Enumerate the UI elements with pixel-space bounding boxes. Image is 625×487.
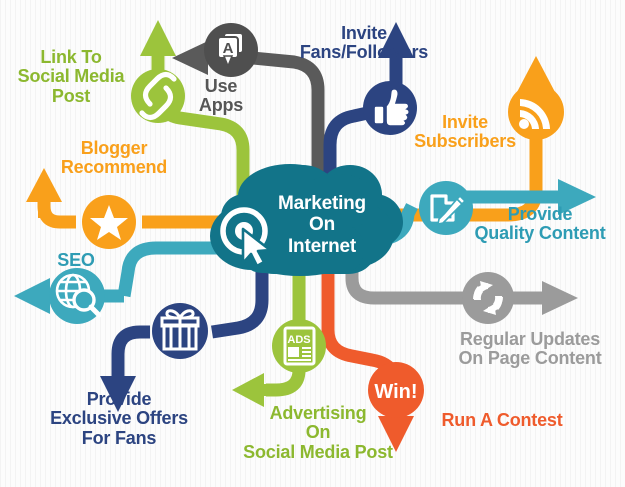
svg-text:ADS: ADS xyxy=(287,334,310,346)
rss-feed-icon-badge[interactable] xyxy=(508,84,564,140)
win-badge-icon[interactable]: Win! xyxy=(368,362,424,418)
connector-run-a-contest xyxy=(328,258,414,452)
mindmap-artwork: A xyxy=(0,0,625,487)
chain-link-icon-badge[interactable] xyxy=(131,69,185,123)
app-bubble-a-icon-badge[interactable]: A xyxy=(204,23,258,77)
thumbs-up-icon-badge[interactable] xyxy=(363,81,417,135)
svg-text:A: A xyxy=(223,40,234,57)
gift-box-icon-badge[interactable] xyxy=(152,303,208,359)
win-badge-text: Win! xyxy=(374,381,417,403)
infographic-canvas: A xyxy=(0,0,625,487)
pencil-document-icon-badge[interactable] xyxy=(419,181,473,235)
star-icon-badge[interactable] xyxy=(82,195,136,249)
globe-search-icon-badge[interactable] xyxy=(49,268,105,324)
refresh-cycle-icon-badge[interactable] xyxy=(462,272,514,324)
connector-seo xyxy=(14,248,230,314)
ads-newspaper-icon-badge[interactable]: ADS xyxy=(272,319,326,373)
